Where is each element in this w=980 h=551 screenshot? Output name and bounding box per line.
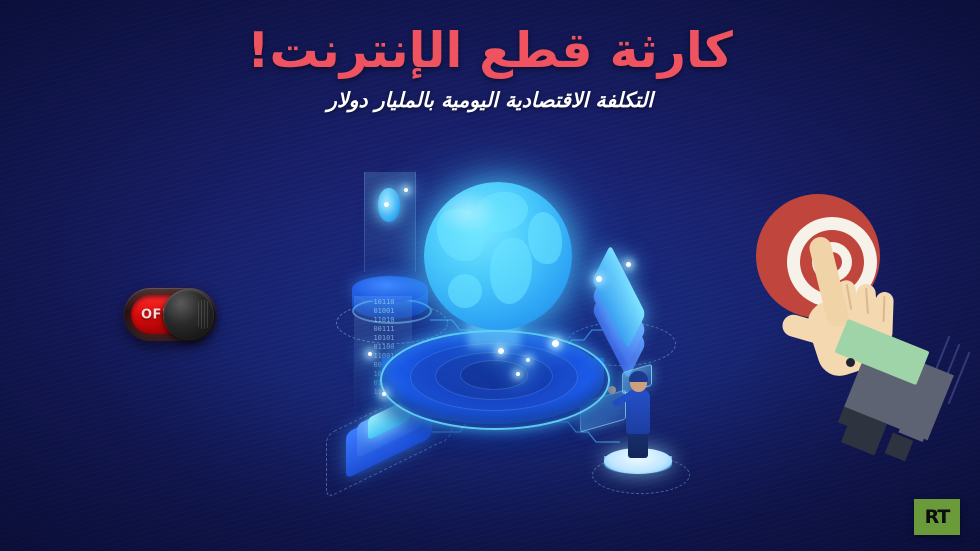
sparkle bbox=[526, 358, 530, 362]
plug-prong bbox=[885, 433, 914, 462]
globe-landmass bbox=[490, 238, 532, 304]
sparkle bbox=[368, 352, 372, 356]
person-hair bbox=[629, 371, 648, 382]
sparkle bbox=[626, 262, 631, 267]
sparkle bbox=[382, 392, 386, 396]
sparkle bbox=[552, 340, 559, 347]
rt-logo-text: RT bbox=[925, 506, 950, 528]
page-title: كارثة قطع الإنترنت! bbox=[0, 26, 980, 76]
globe-highlight bbox=[436, 190, 498, 234]
database-hologram-beam bbox=[364, 172, 416, 272]
target-and-hand-illustration bbox=[742, 188, 980, 468]
database-capsule-glow bbox=[378, 188, 400, 222]
sparkle bbox=[498, 348, 504, 354]
cuff-button bbox=[846, 358, 855, 367]
network-illustration: 10110 01001 11010 00111 10101 01100 1100… bbox=[320, 180, 720, 510]
person-figure bbox=[602, 356, 674, 480]
toggle-knob[interactable] bbox=[163, 289, 214, 340]
rt-logo: RT bbox=[914, 499, 960, 535]
layers-icon bbox=[572, 274, 668, 354]
sparkle bbox=[596, 276, 602, 282]
headline-block: كارثة قطع الإنترنت! التكلفة الاقتصادية ا… bbox=[0, 26, 980, 112]
globe-icon bbox=[424, 182, 572, 330]
globe-landmass bbox=[528, 212, 562, 264]
power-toggle-switch[interactable]: OFF bbox=[124, 288, 216, 341]
globe-landmass bbox=[448, 274, 482, 308]
sparkle bbox=[516, 372, 520, 376]
infographic-canvas: كارثة قطع الإنترنت! التكلفة الاقتصادية ا… bbox=[0, 0, 980, 551]
sparkle bbox=[384, 202, 389, 207]
sparkle bbox=[404, 188, 408, 192]
page-subtitle: التكلفة الاقتصادية اليومية بالمليار دولا… bbox=[0, 88, 980, 112]
person-hand bbox=[608, 386, 616, 394]
